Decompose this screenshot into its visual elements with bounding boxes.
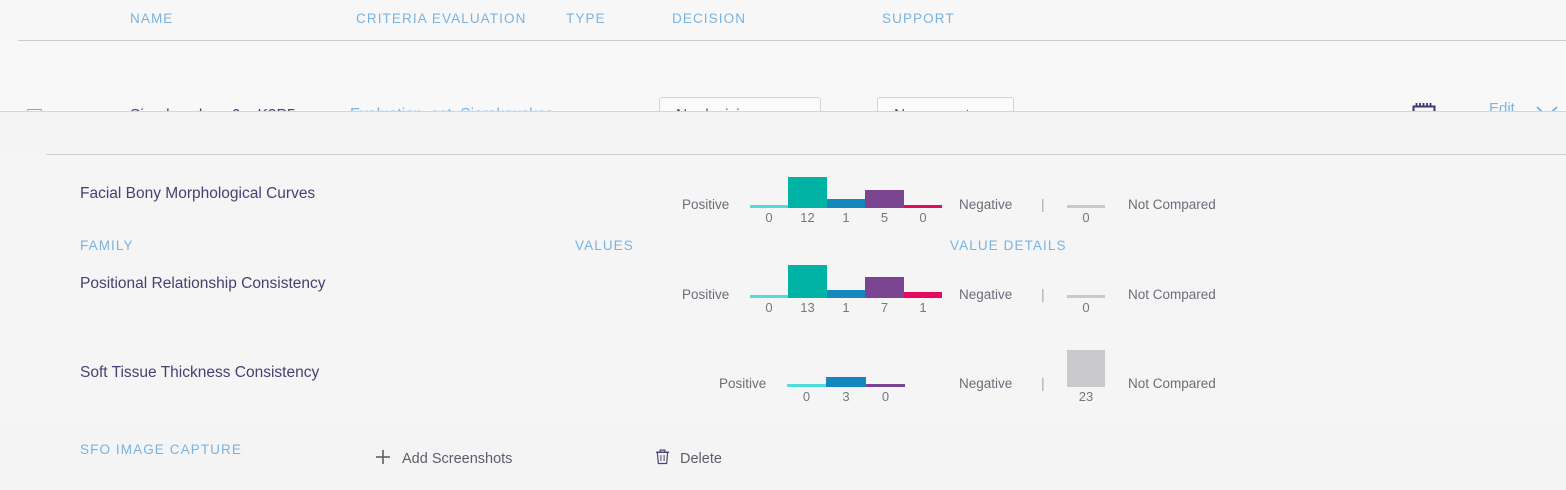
- positive-label: Positive: [682, 287, 729, 302]
- chart-bar-value: 1: [827, 300, 865, 315]
- column-header-type: TYPE: [566, 11, 606, 26]
- delete-label: Delete: [680, 451, 722, 467]
- column-header-criteria: CRITERIA EVALUATION: [356, 11, 526, 26]
- family-row: Soft Tissue Thickness ConsistencyPositiv…: [0, 334, 1566, 424]
- chart-bar[interactable]: [827, 199, 865, 208]
- positive-distribution-chart: 012150: [750, 164, 942, 208]
- plus-icon: [374, 448, 392, 470]
- chart-bar[interactable]: [1067, 205, 1105, 208]
- chart-bar-value: 1: [904, 300, 942, 315]
- positive-label: Positive: [719, 376, 766, 391]
- chart-bar-value: 13: [788, 300, 827, 315]
- record-row: Sierakauskas_6a_K3P5 Evaluation_set_Sier…: [0, 41, 1566, 111]
- family-name: Positional Relationship Consistency: [80, 275, 326, 293]
- chart-bar-value: 12: [788, 210, 827, 225]
- chart-bar[interactable]: [904, 292, 942, 298]
- chart-bar-value: 1: [827, 210, 865, 225]
- chart-bar-value: 3: [826, 389, 866, 404]
- section-divider: |: [1041, 286, 1045, 302]
- criteria-evaluation-panel: NAME CRITERIA EVALUATION TYPE DECISION S…: [0, 0, 1566, 490]
- chart-bar[interactable]: [1067, 295, 1105, 298]
- chart-bar-value: 0: [866, 389, 905, 404]
- chart-bar[interactable]: [904, 205, 942, 208]
- positive-distribution-chart: 030: [787, 343, 905, 387]
- detail-column-header: FAMILY VALUES VALUE DETAILS: [0, 112, 1566, 154]
- chart-bar[interactable]: [788, 177, 827, 208]
- image-capture-footer: SFO IMAGE CAPTURE Add Screenshots Delete: [0, 424, 1566, 490]
- chart-bar[interactable]: [788, 265, 827, 298]
- chart-bar[interactable]: [826, 377, 866, 387]
- chart-bar[interactable]: [787, 384, 826, 387]
- column-header-decision: DECISION: [672, 11, 746, 26]
- chart-bar-value: 23: [1067, 389, 1105, 404]
- add-screenshots-button[interactable]: Add Screenshots: [374, 448, 512, 470]
- family-name: Facial Bony Morphological Curves: [80, 185, 315, 203]
- column-header-name: NAME: [130, 11, 173, 26]
- chart-bar-value: 5: [865, 210, 904, 225]
- section-divider: |: [1041, 196, 1045, 212]
- negative-label: Negative: [959, 376, 1012, 391]
- trash-icon: [655, 448, 670, 469]
- chart-bar[interactable]: [827, 290, 865, 298]
- negative-label: Negative: [959, 287, 1012, 302]
- chart-bar[interactable]: [866, 384, 905, 387]
- not-compared-label: Not Compared: [1128, 376, 1216, 391]
- negative-distribution-chart: 23: [1067, 343, 1105, 387]
- chart-bar-value: 0: [750, 210, 788, 225]
- negative-distribution-chart: 0: [1067, 164, 1105, 208]
- negative-distribution-chart: 0: [1067, 254, 1105, 298]
- chart-bar[interactable]: [865, 190, 904, 208]
- chart-bar[interactable]: [865, 277, 904, 298]
- family-row: Positional Relationship ConsistencyPosit…: [0, 245, 1566, 335]
- family-row: Facial Bony Morphological CurvesPositive…: [0, 155, 1566, 245]
- footer-title: SFO IMAGE CAPTURE: [80, 442, 242, 457]
- chart-bar-value: 0: [750, 300, 788, 315]
- chart-bar[interactable]: [1067, 350, 1105, 387]
- column-header-support: SUPPORT: [882, 11, 955, 26]
- not-compared-label: Not Compared: [1128, 287, 1216, 302]
- chart-bar-value: 0: [787, 389, 826, 404]
- negative-label: Negative: [959, 197, 1012, 212]
- chart-bar-value: 7: [865, 300, 904, 315]
- table-column-header: NAME CRITERIA EVALUATION TYPE DECISION S…: [0, 0, 1566, 40]
- chart-bar-value: 0: [904, 210, 942, 225]
- chart-bar-value: 0: [1067, 210, 1105, 225]
- not-compared-label: Not Compared: [1128, 197, 1216, 212]
- delete-button[interactable]: Delete: [655, 448, 722, 469]
- chart-bar[interactable]: [750, 205, 788, 208]
- add-screenshots-label: Add Screenshots: [402, 451, 512, 467]
- section-divider: |: [1041, 375, 1045, 391]
- chart-bar-value: 0: [1067, 300, 1105, 315]
- chart-bar[interactable]: [750, 295, 788, 298]
- positive-label: Positive: [682, 197, 729, 212]
- positive-distribution-chart: 013171: [750, 254, 942, 298]
- family-name: Soft Tissue Thickness Consistency: [80, 364, 319, 382]
